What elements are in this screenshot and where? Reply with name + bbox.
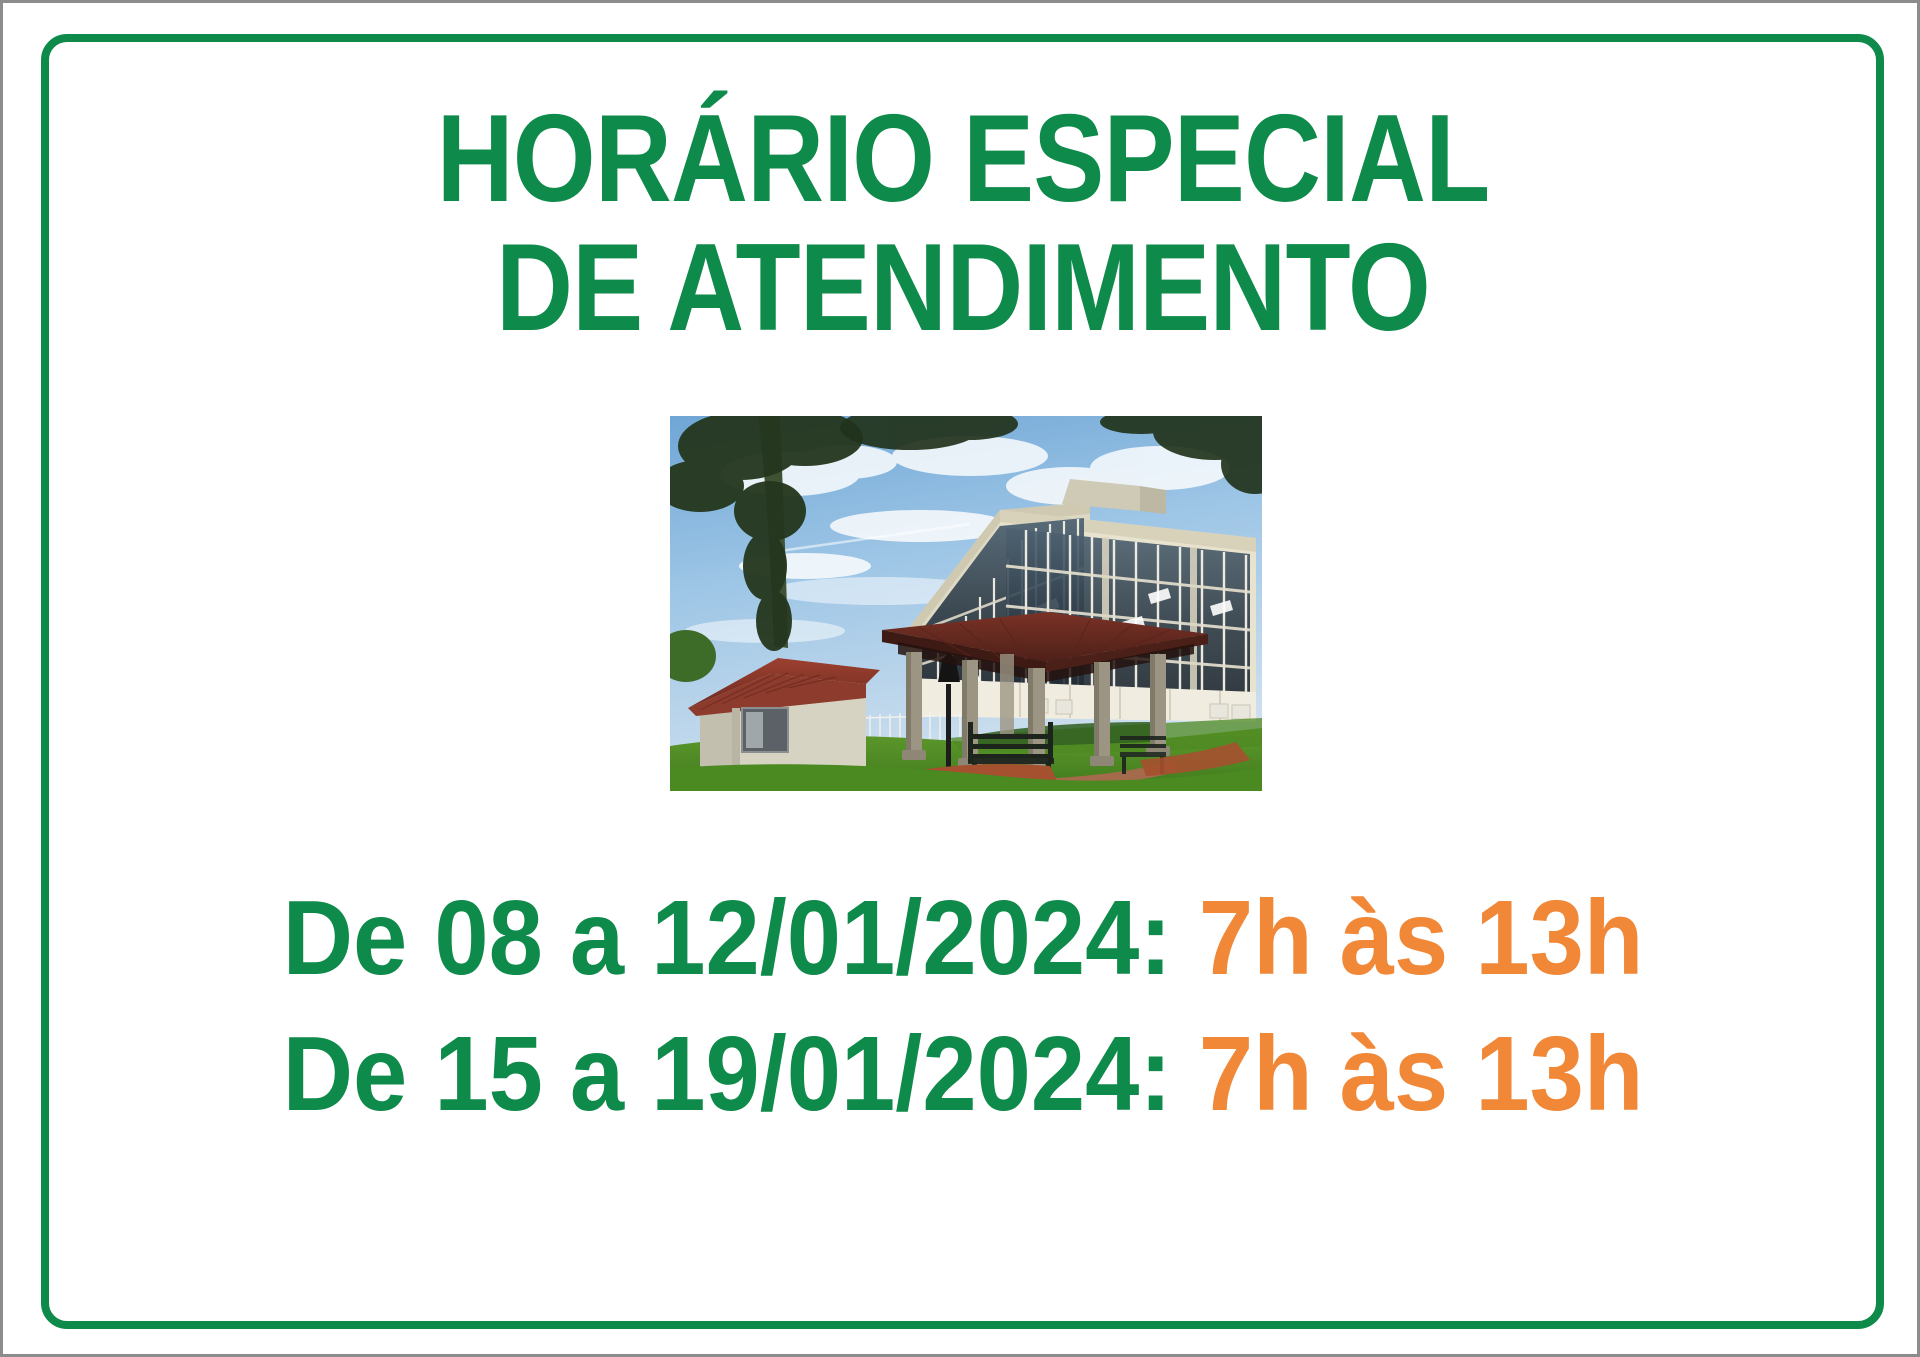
schedule-date-range-1: De 08 a 12/01/2024: <box>283 879 1172 997</box>
title-line-1: HORÁRIO ESPECIAL <box>137 95 1788 224</box>
page-title: HORÁRIO ESPECIAL DE ATENDIMENTO <box>3 95 1920 353</box>
schedule-date-range-2: De 15 a 19/01/2024: <box>283 1015 1172 1133</box>
schedule-row: De 15 a 19/01/2024: 7h às 13h <box>80 1007 1846 1143</box>
building-photo-illustration <box>670 416 1262 791</box>
schedule-row: De 08 a 12/01/2024: 7h às 13h <box>80 871 1846 1007</box>
schedule-block: De 08 a 12/01/2024: 7h às 13h De 15 a 19… <box>3 871 1920 1142</box>
schedule-hours-1: 7h às 13h <box>1199 879 1644 997</box>
schedule-hours-2: 7h às 13h <box>1199 1015 1644 1133</box>
building-photo <box>670 416 1262 791</box>
title-line-2: DE ATENDIMENTO <box>137 224 1788 353</box>
poster-canvas: HORÁRIO ESPECIAL DE ATENDIMENTO <box>0 0 1920 1357</box>
